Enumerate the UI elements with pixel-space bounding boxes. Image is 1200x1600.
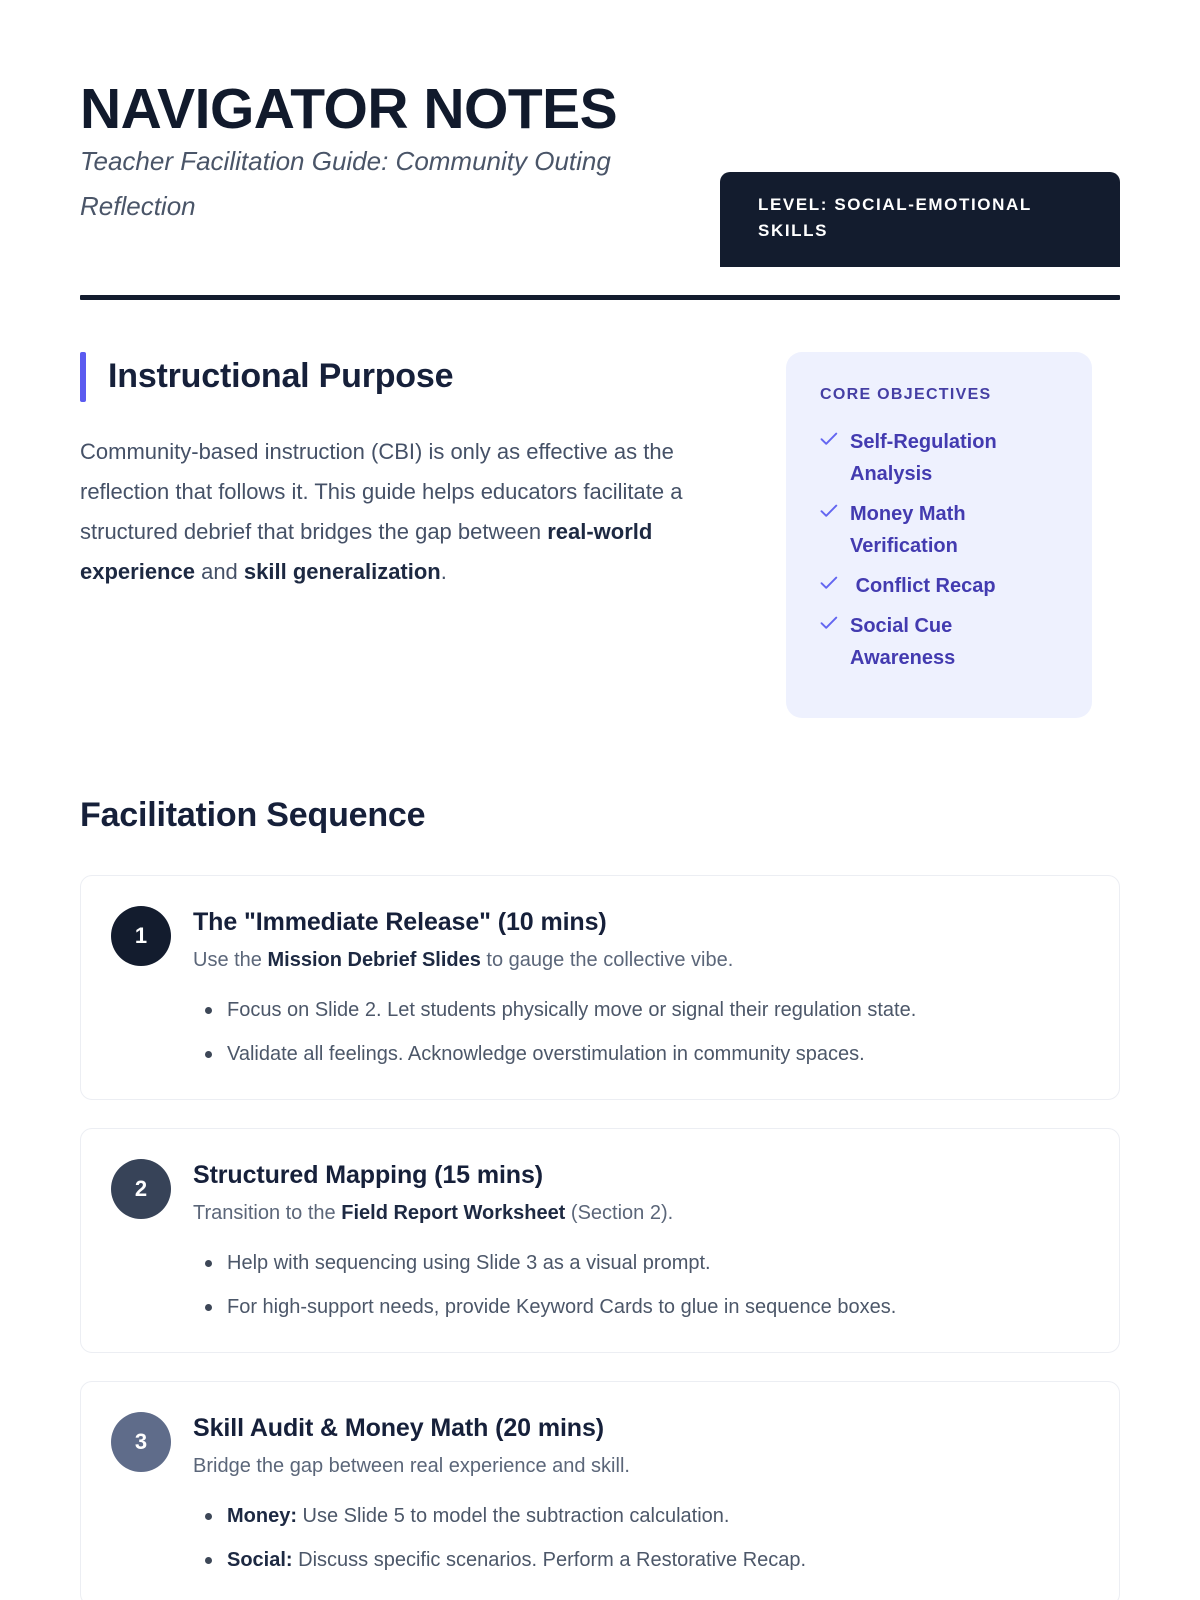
list-item: Money Math Verification xyxy=(820,498,1062,562)
step-subtitle: Transition to the Field Report Worksheet… xyxy=(193,1198,1085,1228)
purpose-text-3: . xyxy=(441,559,447,584)
check-icon xyxy=(820,504,838,518)
step-sub-pre: Bridge the gap between real experience a… xyxy=(193,1455,630,1477)
page-subtitle: Teacher Facilitation Guide: Community Ou… xyxy=(80,146,611,221)
purpose-heading: Instructional Purpose xyxy=(80,352,750,402)
objective-label: Self-Regulation Analysis xyxy=(850,426,1062,490)
step-sub-bold: Mission Debrief Slides xyxy=(267,949,480,971)
core-objectives-list: Self-Regulation Analysis Money Math Veri… xyxy=(820,426,1062,674)
bullet-text: Use Slide 5 to model the subtraction cal… xyxy=(297,1505,729,1527)
step-bullet-list: Money: Use Slide 5 to model the subtract… xyxy=(193,1501,1085,1575)
purpose-text-2: and xyxy=(195,559,244,584)
header-row: NAVIGATOR NOTES Teacher Facilitation Gui… xyxy=(80,80,1120,267)
core-objectives-label: CORE OBJECTIVES xyxy=(820,386,1062,404)
step-bullet-list: Help with sequencing using Slide 3 as a … xyxy=(193,1248,1085,1322)
list-item: Validate all feelings. Acknowledge overs… xyxy=(227,1039,1085,1069)
purpose-emphasis-2: skill generalization xyxy=(244,559,441,584)
purpose-main: Instructional Purpose Community-based in… xyxy=(80,352,750,592)
step-sub-pre: Transition to the xyxy=(193,1202,341,1224)
status-badge: LEVEL: SOCIAL-EMOTIONAL SKILLS xyxy=(720,172,1120,267)
step-card: 3 Skill Audit & Money Math (20 mins) Bri… xyxy=(80,1381,1120,1600)
objective-label: Money Math Verification xyxy=(850,498,1062,562)
purpose-paragraph: Community-based instruction (CBI) is onl… xyxy=(80,432,745,592)
step-number-badge: 1 xyxy=(111,906,171,966)
bullet-text: Validate all feelings. Acknowledge overs… xyxy=(227,1043,865,1065)
step-card: 2 Structured Mapping (15 mins) Transitio… xyxy=(80,1128,1120,1353)
step-subtitle: Bridge the gap between real experience a… xyxy=(193,1451,1085,1481)
page-title: NAVIGATOR NOTES xyxy=(80,80,720,139)
objective-label: Social Cue Awareness xyxy=(850,610,1062,674)
check-icon xyxy=(820,432,838,446)
step-title: The "Immediate Release" (10 mins) xyxy=(193,908,1085,937)
step-title: Skill Audit & Money Math (20 mins) xyxy=(193,1414,1085,1443)
bullet-lead: Social: xyxy=(227,1549,293,1571)
header-titles: NAVIGATOR NOTES Teacher Facilitation Gui… xyxy=(80,80,720,229)
step-sub-post: (Section 2). xyxy=(565,1202,673,1224)
step-title: Structured Mapping (15 mins) xyxy=(193,1161,1085,1190)
step-sub-pre: Use the xyxy=(193,949,267,971)
bullet-text: Help with sequencing using Slide 3 as a … xyxy=(227,1252,711,1274)
step-body: The "Immediate Release" (10 mins) Use th… xyxy=(193,906,1085,1069)
step-body: Structured Mapping (15 mins) Transition … xyxy=(193,1159,1085,1322)
step-number-badge: 3 xyxy=(111,1412,171,1472)
list-item: Money: Use Slide 5 to model the subtract… xyxy=(227,1501,1085,1531)
section-title: Instructional Purpose xyxy=(108,357,453,396)
bullet-lead: Money: xyxy=(227,1505,297,1527)
accent-bar-icon xyxy=(80,352,86,402)
purpose-section: Instructional Purpose Community-based in… xyxy=(0,300,1200,718)
document-page: NAVIGATOR NOTES Teacher Facilitation Gui… xyxy=(0,0,1200,1600)
sequence-steps: 1 The "Immediate Release" (10 mins) Use … xyxy=(0,875,1200,1600)
step-body: Skill Audit & Money Math (20 mins) Bridg… xyxy=(193,1412,1085,1575)
bullet-text: For high-support needs, provide Keyword … xyxy=(227,1296,896,1318)
step-card: 1 The "Immediate Release" (10 mins) Use … xyxy=(80,875,1120,1100)
step-bullet-list: Focus on Slide 2. Let students physicall… xyxy=(193,995,1085,1069)
step-number-badge: 2 xyxy=(111,1159,171,1219)
list-item: Conflict Recap xyxy=(820,570,1062,602)
document-header: NAVIGATOR NOTES Teacher Facilitation Gui… xyxy=(0,0,1200,267)
sequence-heading: Facilitation Sequence xyxy=(0,796,1200,835)
list-item: For high-support needs, provide Keyword … xyxy=(227,1292,1085,1322)
step-sub-bold: Field Report Worksheet xyxy=(341,1202,565,1224)
step-sub-post: to gauge the collective vibe. xyxy=(481,949,733,971)
subtitle-wrapper: Teacher Facilitation Guide: Community Ou… xyxy=(80,139,680,228)
list-item: Help with sequencing using Slide 3 as a … xyxy=(227,1248,1085,1278)
list-item: Social Cue Awareness xyxy=(820,610,1062,674)
list-item: Self-Regulation Analysis xyxy=(820,426,1062,490)
bullet-text: Discuss specific scenarios. Perform a Re… xyxy=(293,1549,807,1571)
core-objectives-card: CORE OBJECTIVES Self-Regulation Analysis… xyxy=(786,352,1092,718)
objective-label: Conflict Recap xyxy=(850,570,996,602)
check-icon xyxy=(820,576,838,590)
step-subtitle: Use the Mission Debrief Slides to gauge … xyxy=(193,945,1085,975)
list-item: Focus on Slide 2. Let students physicall… xyxy=(227,995,1085,1025)
check-icon xyxy=(820,616,838,630)
list-item: Social: Discuss specific scenarios. Perf… xyxy=(227,1545,1085,1575)
bullet-text: Focus on Slide 2. Let students physicall… xyxy=(227,999,916,1021)
